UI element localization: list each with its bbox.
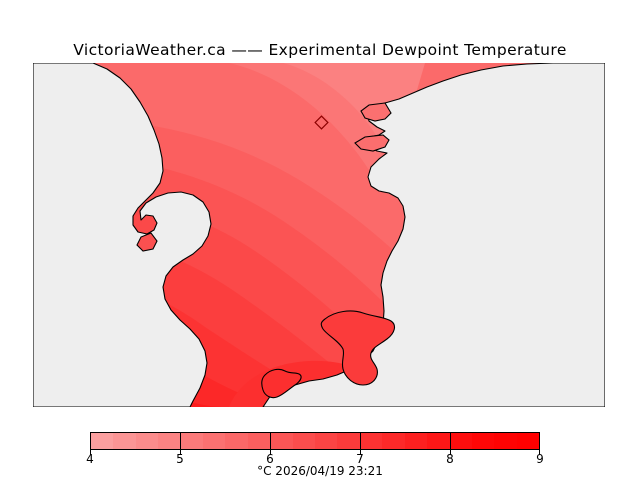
colorbar-swatch-9 <box>293 433 315 449</box>
colorbar-swatch-11 <box>337 433 359 449</box>
colorbar-swatch-17 <box>472 433 494 449</box>
colorbar-swatch-6 <box>225 433 247 449</box>
colorbar-swatch-1 <box>113 433 135 449</box>
colorbar-swatch-12 <box>360 433 382 449</box>
colorbar-swatch-8 <box>270 433 292 449</box>
colorbar-swatch-7 <box>248 433 270 449</box>
colorbar-gradient[interactable] <box>90 432 540 450</box>
colorbar-swatch-0 <box>91 433 113 449</box>
map-panel[interactable] <box>33 63 605 407</box>
page-title: VictoriaWeather.ca —— Experimental Dewpo… <box>0 41 640 59</box>
colorbar-swatch-10 <box>315 433 337 449</box>
colorbar-swatch-19 <box>517 433 539 449</box>
colorbar-swatch-13 <box>382 433 404 449</box>
colorbar-swatch-5 <box>203 433 225 449</box>
colorbar-swatch-2 <box>136 433 158 449</box>
colorbar-swatch-16 <box>450 433 472 449</box>
colorbar-caption: °C 2026/04/19 23:21 <box>0 464 640 478</box>
colorbar[interactable] <box>90 432 540 450</box>
colorbar-swatch-18 <box>494 433 516 449</box>
colorbar-swatch-3 <box>158 433 180 449</box>
colorbar-swatch-14 <box>405 433 427 449</box>
dewpoint-contour-map[interactable] <box>33 63 605 407</box>
weather-map-app: VictoriaWeather.ca —— Experimental Dewpo… <box>0 0 640 480</box>
colorbar-swatch-15 <box>427 433 449 449</box>
colorbar-swatch-4 <box>181 433 203 449</box>
